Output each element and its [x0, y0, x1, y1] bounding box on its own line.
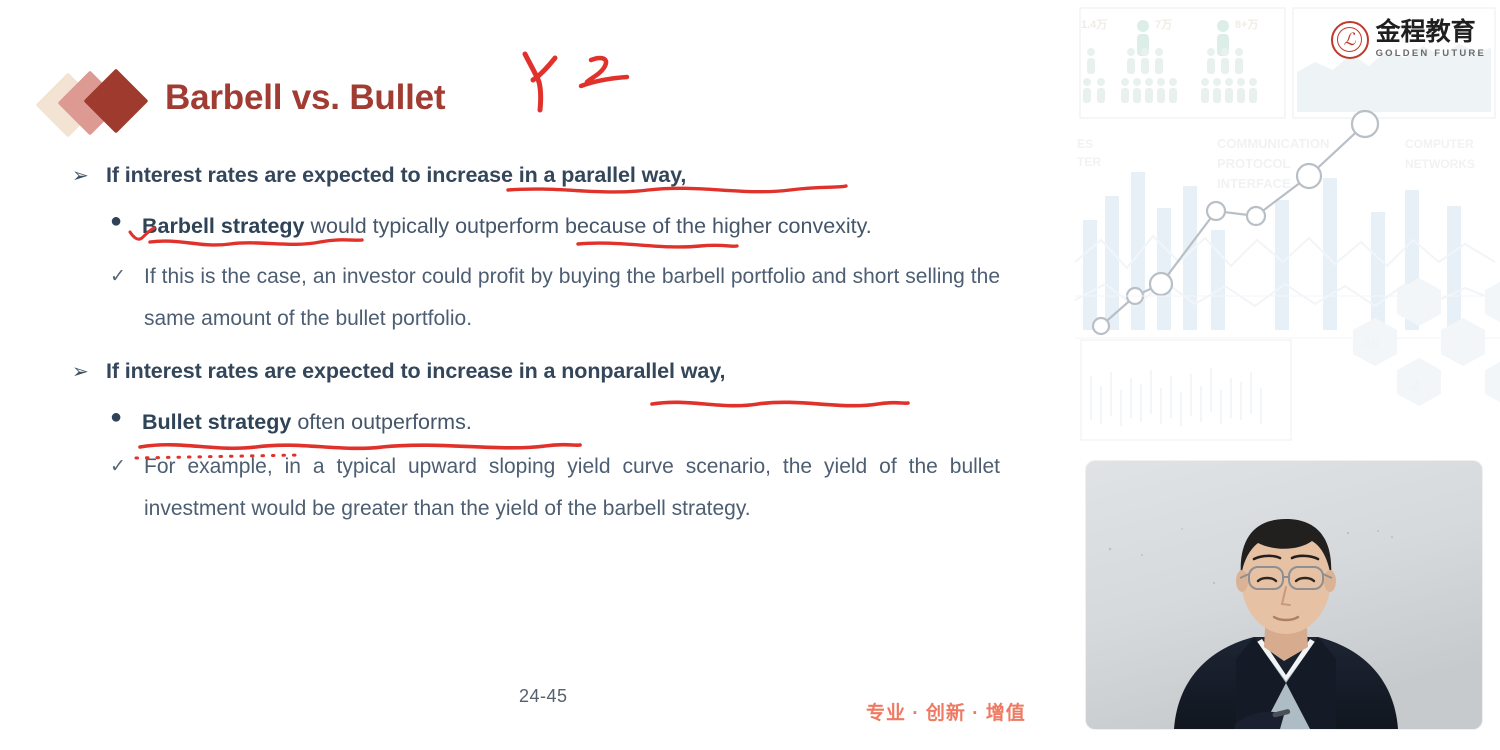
logo-seal-letter: ℒ — [1337, 27, 1362, 52]
slide-body: ➢ If interest rates are expected to incr… — [72, 158, 1012, 530]
point-bullet-rest: often outperforms. — [291, 410, 471, 434]
right-panel: 1.4万7万8+万 ES TER COMMUNICATION PROTOCOL … — [1075, 0, 1500, 750]
check-bullet-icon: ✓ — [110, 256, 144, 297]
arrow-bullet-icon: ➢ — [72, 356, 106, 387]
logo-english-name: GOLDEN FUTURE — [1376, 48, 1486, 59]
bullet-detail-arbitrage: ✓ If this is the case, an investor could… — [72, 256, 1012, 340]
screen: Barbell vs. Bullet ➢ If interest rates a… — [0, 0, 1500, 750]
svg-text:NETWORKS: NETWORKS — [1405, 157, 1475, 171]
presenter-video-feed[interactable] — [1086, 461, 1482, 729]
bullet-heading-parallel: ➢ If interest rates are expected to incr… — [72, 160, 1012, 191]
point-bullet-text: Bullet strategy often outperforms. — [142, 401, 998, 444]
bullet-strategy-bold: Bullet strategy — [142, 410, 291, 434]
detail-arbitrage-text: If this is the case, an investor could p… — [144, 256, 1000, 340]
check-bullet-icon: ✓ — [110, 446, 144, 487]
handwritten-annotation-top-icon — [505, 44, 665, 116]
bullet-point-bullet-strategy: ● Bullet strategy often outperforms. — [72, 401, 1012, 444]
svg-text:INTERFACE: INTERFACE — [1217, 176, 1291, 191]
bullet-detail-yield-curve: ✓ For example, in a typical upward slopi… — [72, 446, 1012, 530]
background-infographic: 1.4万7万8+万 ES TER COMMUNICATION PROTOCOL … — [1075, 0, 1500, 450]
logo-chinese-name: 金程教育 — [1376, 20, 1486, 45]
dot-bullet-icon: ● — [110, 401, 142, 433]
svg-text:8+万: 8+万 — [1235, 18, 1259, 31]
point-barbell-rest: would typically outperform because of th… — [305, 214, 872, 238]
brand-logo: ℒ 金程教育 GOLDEN FUTURE — [1331, 20, 1486, 59]
svg-text:COMMUNICATION: COMMUNICATION — [1217, 136, 1329, 151]
logo-seal-icon: ℒ — [1331, 21, 1369, 59]
point-barbell-text: Barbell strategy would typically outperf… — [142, 205, 998, 248]
page-title: Barbell vs. Bullet — [165, 78, 445, 118]
heading-nonparallel-text: If interest rates are expected to increa… — [106, 356, 725, 386]
arrow-bullet-icon: ➢ — [72, 160, 106, 191]
svg-text:COMPUTER: COMPUTER — [1405, 137, 1474, 151]
bullet-point-barbell: ● Barbell strategy would typically outpe… — [72, 205, 1012, 248]
page-number: 24-45 — [519, 686, 568, 707]
dot-bullet-icon: ● — [110, 205, 142, 237]
presenter-image — [1086, 461, 1482, 729]
svg-text:2: 2 — [1411, 377, 1419, 394]
bullet-heading-nonparallel: ➢ If interest rates are expected to incr… — [72, 356, 1012, 387]
brand-slogan: 专业 · 创新 · 增值 — [866, 698, 1026, 725]
heading-parallel-text: If interest rates are expected to increa… — [106, 160, 686, 190]
svg-text:1.4万: 1.4万 — [1081, 18, 1107, 31]
svg-text:7万: 7万 — [1155, 18, 1172, 31]
svg-text:TER: TER — [1077, 155, 1101, 169]
svg-text:PROTOCOL: PROTOCOL — [1217, 156, 1290, 171]
barbell-strategy-bold: Barbell strategy — [142, 214, 305, 238]
logo-text-block: 金程教育 GOLDEN FUTURE — [1376, 20, 1486, 59]
detail-yield-curve-text: For example, in a typical upward sloping… — [144, 446, 1000, 530]
slide-area: Barbell vs. Bullet ➢ If interest rates a… — [0, 0, 1075, 750]
svg-text:ES: ES — [1077, 137, 1093, 151]
